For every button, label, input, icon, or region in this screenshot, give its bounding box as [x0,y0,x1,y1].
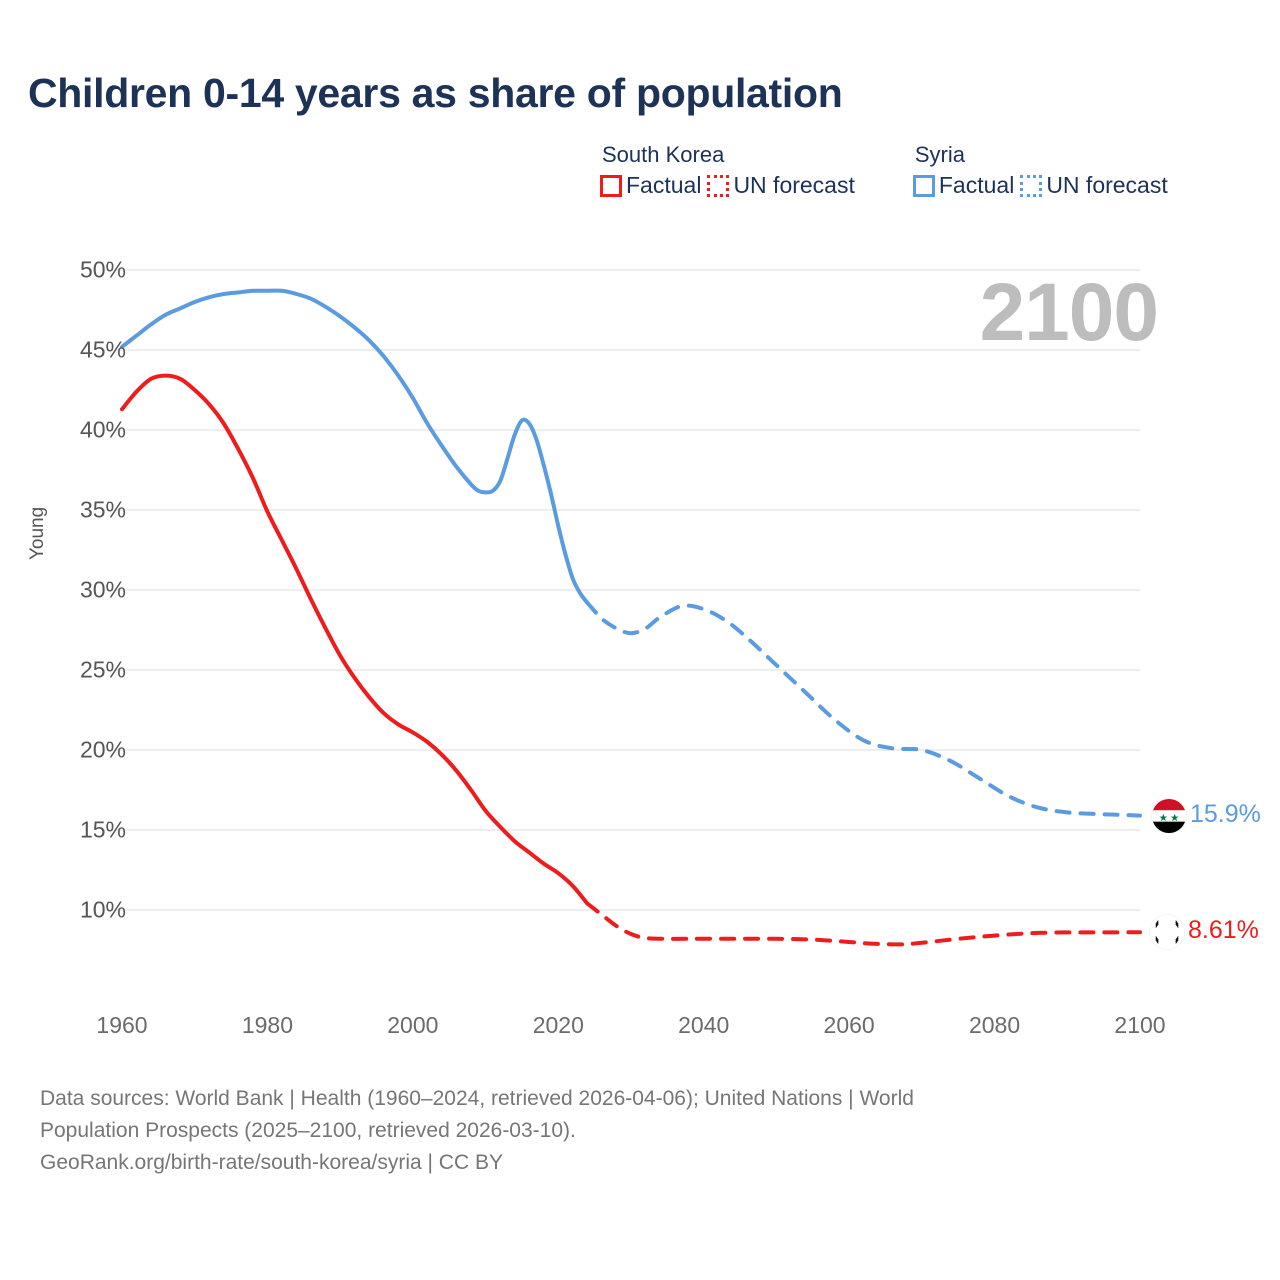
line-syria-forecast [587,603,1140,816]
y-axis-tick-label: 50% [22,257,126,284]
gridlines [104,270,1140,910]
chart-page: Children 0-14 years as share of populati… [0,0,1280,1280]
y-axis-tick-label: 40% [22,417,126,444]
y-axis-tick-label: 25% [22,657,126,684]
y-axis-tick-label: 20% [22,737,126,764]
end-label-south-korea: 8.61% [1188,916,1259,945]
footer-line-3[interactable]: GeoRank.org/birth-rate/south-korea/syria… [40,1147,1180,1179]
x-axis-tick-label: 2040 [678,1012,729,1039]
x-axis-tick-label: 2060 [824,1012,875,1039]
y-axis-tick-label: 30% [22,577,126,604]
y-axis-tick-label: 10% [22,897,126,924]
syria-flag-icon [1152,799,1186,833]
x-axis-tick-label: 2000 [387,1012,438,1039]
x-axis-tick-label: 2080 [969,1012,1020,1039]
y-axis-tick-label: 45% [22,337,126,364]
south-korea-flag-icon [1150,915,1184,949]
line-south-korea-factual [122,376,587,904]
footer-sources: Data sources: World Bank | Health (1960–… [40,1083,1180,1179]
y-axis-tick-label: 15% [22,817,126,844]
x-axis-tick-label: 2100 [1114,1012,1165,1039]
end-label-syria: 15.9% [1190,800,1261,829]
x-axis-tick-label: 1980 [242,1012,293,1039]
line-syria-factual [122,291,587,603]
x-axis-tick-label: 1960 [96,1012,147,1039]
y-axis-tick-label: 35% [22,497,126,524]
footer-line-1: Data sources: World Bank | Health (1960–… [40,1083,1180,1115]
series-lines [122,291,1140,945]
footer-line-2: Population Prospects (2025–2100, retriev… [40,1115,1180,1147]
x-axis-tick-label: 2020 [533,1012,584,1039]
